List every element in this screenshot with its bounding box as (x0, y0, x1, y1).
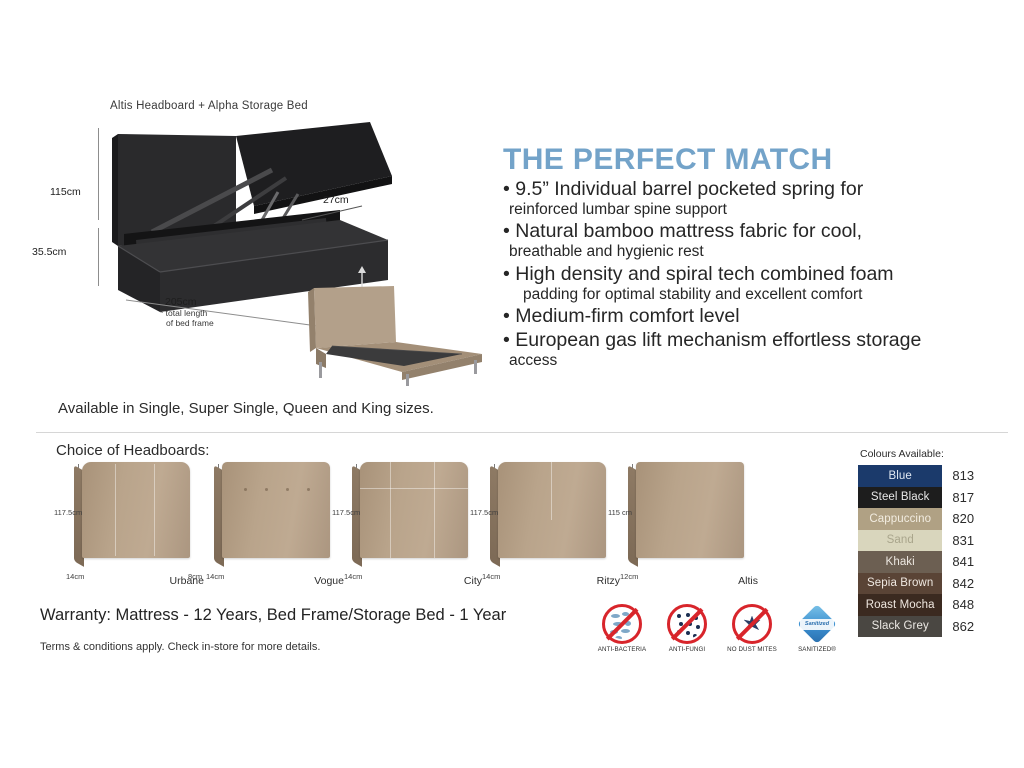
section-divider (36, 432, 1008, 433)
urbane-depth-label: 14cm (66, 572, 84, 581)
bed-length-label: 205cm (165, 296, 197, 308)
height-dim-rule (98, 128, 99, 220)
colour-code-steel-black: 817 (942, 487, 1008, 509)
feature-sub: reinforced lumbar spine support (503, 201, 1018, 220)
altis-name-label: Altis (738, 575, 758, 587)
altis-front-panel (636, 462, 744, 558)
colour-swatch-khaki: Khaki (858, 551, 942, 573)
badge-anti-bacteria: ANTI-BACTERIA (596, 604, 648, 653)
badge-sanitized: Sanitized SANITIZED® (791, 604, 843, 653)
certification-badges: ANTI-BACTERIA ANTI-FUNGI NO (596, 604, 843, 653)
colour-row[interactable]: Cappuccino 820 (858, 508, 1008, 530)
ritzy-height-label: 117.5cm (470, 508, 498, 517)
colour-row[interactable]: Slack Grey 862 (858, 616, 1008, 638)
terms-text: Terms & conditions apply. Check in-store… (40, 641, 320, 653)
feature-item: • 9.5” Individual barrel pocketed spring… (503, 178, 1018, 220)
page-title: THE PERFECT MATCH (503, 144, 1018, 176)
lift-height-label: 27cm (323, 194, 349, 206)
colour-swatch-sand: Sand (858, 530, 942, 552)
feature-sub: padding for optimal stability and excell… (503, 286, 1018, 305)
altis-height-label: 115 cm (608, 508, 632, 517)
headboard-option-altis[interactable]: 115 cm 12cm Altis (610, 452, 760, 587)
feature-main: • Natural bamboo mattress fabric for coo… (503, 220, 1018, 243)
feature-main: • High density and spiral tech combined … (503, 263, 1018, 286)
colour-swatch-blue: Blue (858, 465, 942, 487)
feature-main: • 9.5” Individual barrel pocketed spring… (503, 178, 1018, 201)
bed-base-height-label: 35.5cm (32, 246, 66, 258)
bed-length-note-2: of bed frame (166, 318, 214, 329)
vogue-front-panel (222, 462, 330, 558)
colour-swatch-sepia-brown: Sepia Brown (858, 573, 942, 595)
colour-row[interactable]: Sepia Brown 842 (858, 573, 1008, 595)
colour-swatch-slack-grey: Slack Grey (858, 616, 942, 638)
feature-sub: access (503, 352, 1018, 371)
feature-sub: breathable and hygienic rest (503, 243, 1018, 262)
features-panel: THE PERFECT MATCH • 9.5” Individual barr… (503, 144, 1018, 372)
colour-code-khaki: 841 (942, 551, 1008, 573)
colour-row[interactable]: Blue 813 (858, 465, 1008, 487)
badge-label: NO DUST MITES (726, 646, 778, 653)
headboard-choices: 117.5cm 14cm Urbane 117. 5cm 8cm 14cm Vo… (56, 452, 846, 587)
feature-item: • European gas lift mechanism effortless… (503, 329, 1018, 371)
base-dim-rule (98, 228, 99, 286)
badge-anti-fungi: ANTI-FUNGI (661, 604, 713, 653)
no-fungi-icon (667, 604, 707, 644)
headboard-option-city[interactable]: 117.5cm 14cm City (334, 452, 484, 587)
ritzy-depth-label: 14cm (482, 572, 500, 581)
feature-main: • European gas lift mechanism effortless… (503, 329, 1018, 352)
headboard-option-ritzy[interactable]: 117.5cm 14cm Ritzy (472, 452, 622, 587)
colour-swatch-steel-black: Steel Black (858, 487, 942, 509)
colour-row[interactable]: Sand 831 (858, 530, 1008, 552)
colours-panel: Colours Available: Blue 813 Steel Black … (858, 448, 1008, 637)
colour-row[interactable]: Khaki 841 (858, 551, 1008, 573)
feature-item: • High density and spiral tech combined … (503, 263, 1018, 305)
colour-code-slack-grey: 862 (942, 616, 1008, 638)
colours-title: Colours Available: (858, 448, 1008, 460)
feature-main: • Medium-firm comfort level (503, 305, 1018, 328)
headboard-option-urbane[interactable]: 117.5cm 14cm Urbane (56, 452, 206, 587)
feature-item: • Natural bamboo mattress fabric for coo… (503, 220, 1018, 262)
no-bacteria-icon (602, 604, 642, 644)
bed-frame-illustration (292, 276, 492, 386)
urbane-height-label: 117.5cm (54, 508, 82, 517)
feature-item: • Medium-firm comfort level (503, 305, 1018, 328)
headboard-option-vogue[interactable]: 117. 5cm 8cm 14cm Vogue (196, 452, 346, 587)
diagram-caption: Altis Headboard + Alpha Storage Bed (110, 100, 308, 112)
colour-swatch-cappuccino: Cappuccino (858, 508, 942, 530)
bed-height-label: 115cm (50, 186, 81, 198)
colour-code-cappuccino: 820 (942, 508, 1008, 530)
colour-row[interactable]: Roast Mocha 848 (858, 594, 1008, 616)
colour-code-sand: 831 (942, 530, 1008, 552)
badge-no-dust-mites: NO DUST MITES (726, 604, 778, 653)
no-dust-mites-icon (732, 604, 772, 644)
ritzy-front-panel (498, 462, 606, 558)
colour-code-blue: 813 (942, 465, 1008, 487)
sanitized-icon: Sanitized (797, 604, 837, 644)
city-front-panel (360, 462, 468, 558)
colour-swatch-roast-mocha: Roast Mocha (858, 594, 942, 616)
badge-label: ANTI-FUNGI (661, 646, 713, 653)
badge-label: SANITIZED® (791, 646, 843, 653)
available-sizes-text: Available in Single, Super Single, Queen… (58, 400, 434, 417)
colour-code-roast-mocha: 848 (942, 594, 1008, 616)
altis-depth-label: 12cm (620, 572, 638, 581)
urbane-front-panel (82, 462, 190, 558)
colour-row[interactable]: Steel Black 817 (858, 487, 1008, 509)
city-height-label: 117.5cm (332, 508, 360, 517)
badge-label: ANTI-BACTERIA (596, 646, 648, 653)
vogue-depth-label: 14cm (206, 572, 224, 581)
city-depth-label: 14cm (344, 572, 362, 581)
warranty-text: Warranty: Mattress - 12 Years, Bed Frame… (40, 606, 506, 625)
colour-code-sepia-brown: 842 (942, 573, 1008, 595)
vogue-thickness-label: 8cm (188, 572, 202, 581)
